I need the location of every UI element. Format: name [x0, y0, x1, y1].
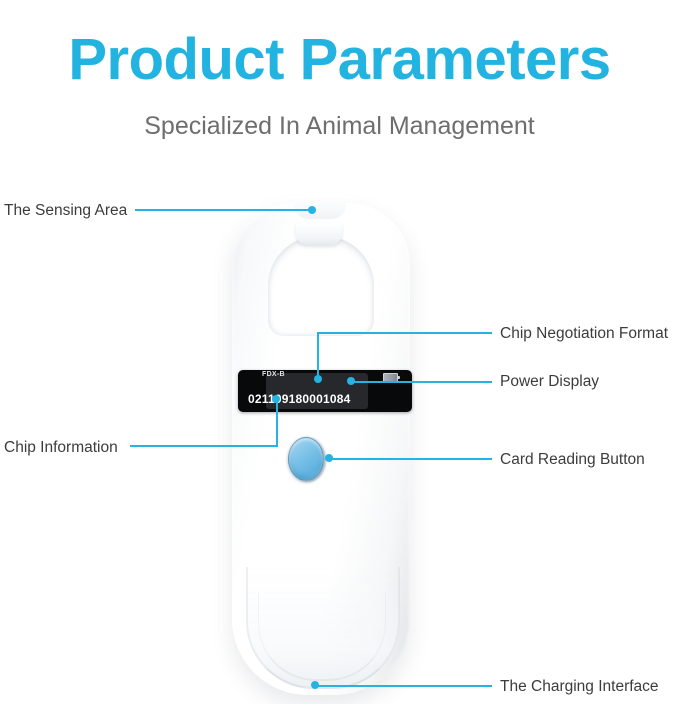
callout-line-chip-negotiation-format-h	[317, 332, 492, 334]
callout-label-chip-information: Chip Information	[4, 440, 118, 456]
callout-dot-charging-interface	[311, 681, 319, 689]
callout-dot-power-display	[347, 377, 355, 385]
page-subtitle: Specialized In Animal Management	[0, 113, 679, 141]
callout-label-chip-negotiation-format: Chip Negotiation Format	[500, 326, 668, 342]
callout-line-chip-information-v	[276, 399, 278, 447]
callout-line-power-display	[352, 381, 492, 383]
device-handle-notch	[296, 223, 342, 245]
callout-label-power-display: Power Display	[500, 374, 599, 390]
screen-format-label: FDX-B	[262, 371, 285, 378]
callout-line-chip-information-h	[130, 445, 278, 447]
callout-line-sensing-area	[135, 209, 313, 211]
callout-dot-chip-information	[272, 395, 280, 403]
callout-label-charging-interface: The Charging Interface	[500, 679, 659, 695]
callout-dot-card-reading-button	[325, 454, 333, 462]
callout-line-chip-negotiation-format-v	[317, 332, 319, 380]
device-illustration: FDX-B 021109180001084	[232, 203, 410, 695]
screen-chip-id: 021109180001084	[248, 392, 350, 406]
device-handle-opening	[268, 236, 374, 336]
product-parameters-infographic: Product Parameters Specialized In Animal…	[0, 0, 679, 704]
card-reading-button[interactable]	[288, 437, 324, 481]
device-handle-top-bump	[294, 203, 346, 219]
callout-line-card-reading-button	[330, 458, 492, 460]
callout-label-card-reading-button: Card Reading Button	[500, 452, 645, 468]
device-screen: FDX-B 021109180001084	[238, 370, 412, 412]
callout-dot-chip-negotiation-format	[314, 375, 322, 383]
page-title: Product Parameters	[0, 30, 679, 91]
callout-label-sensing-area: The Sensing Area	[4, 203, 127, 219]
callout-dot-sensing-area	[308, 206, 316, 214]
callout-line-charging-interface	[316, 685, 492, 687]
